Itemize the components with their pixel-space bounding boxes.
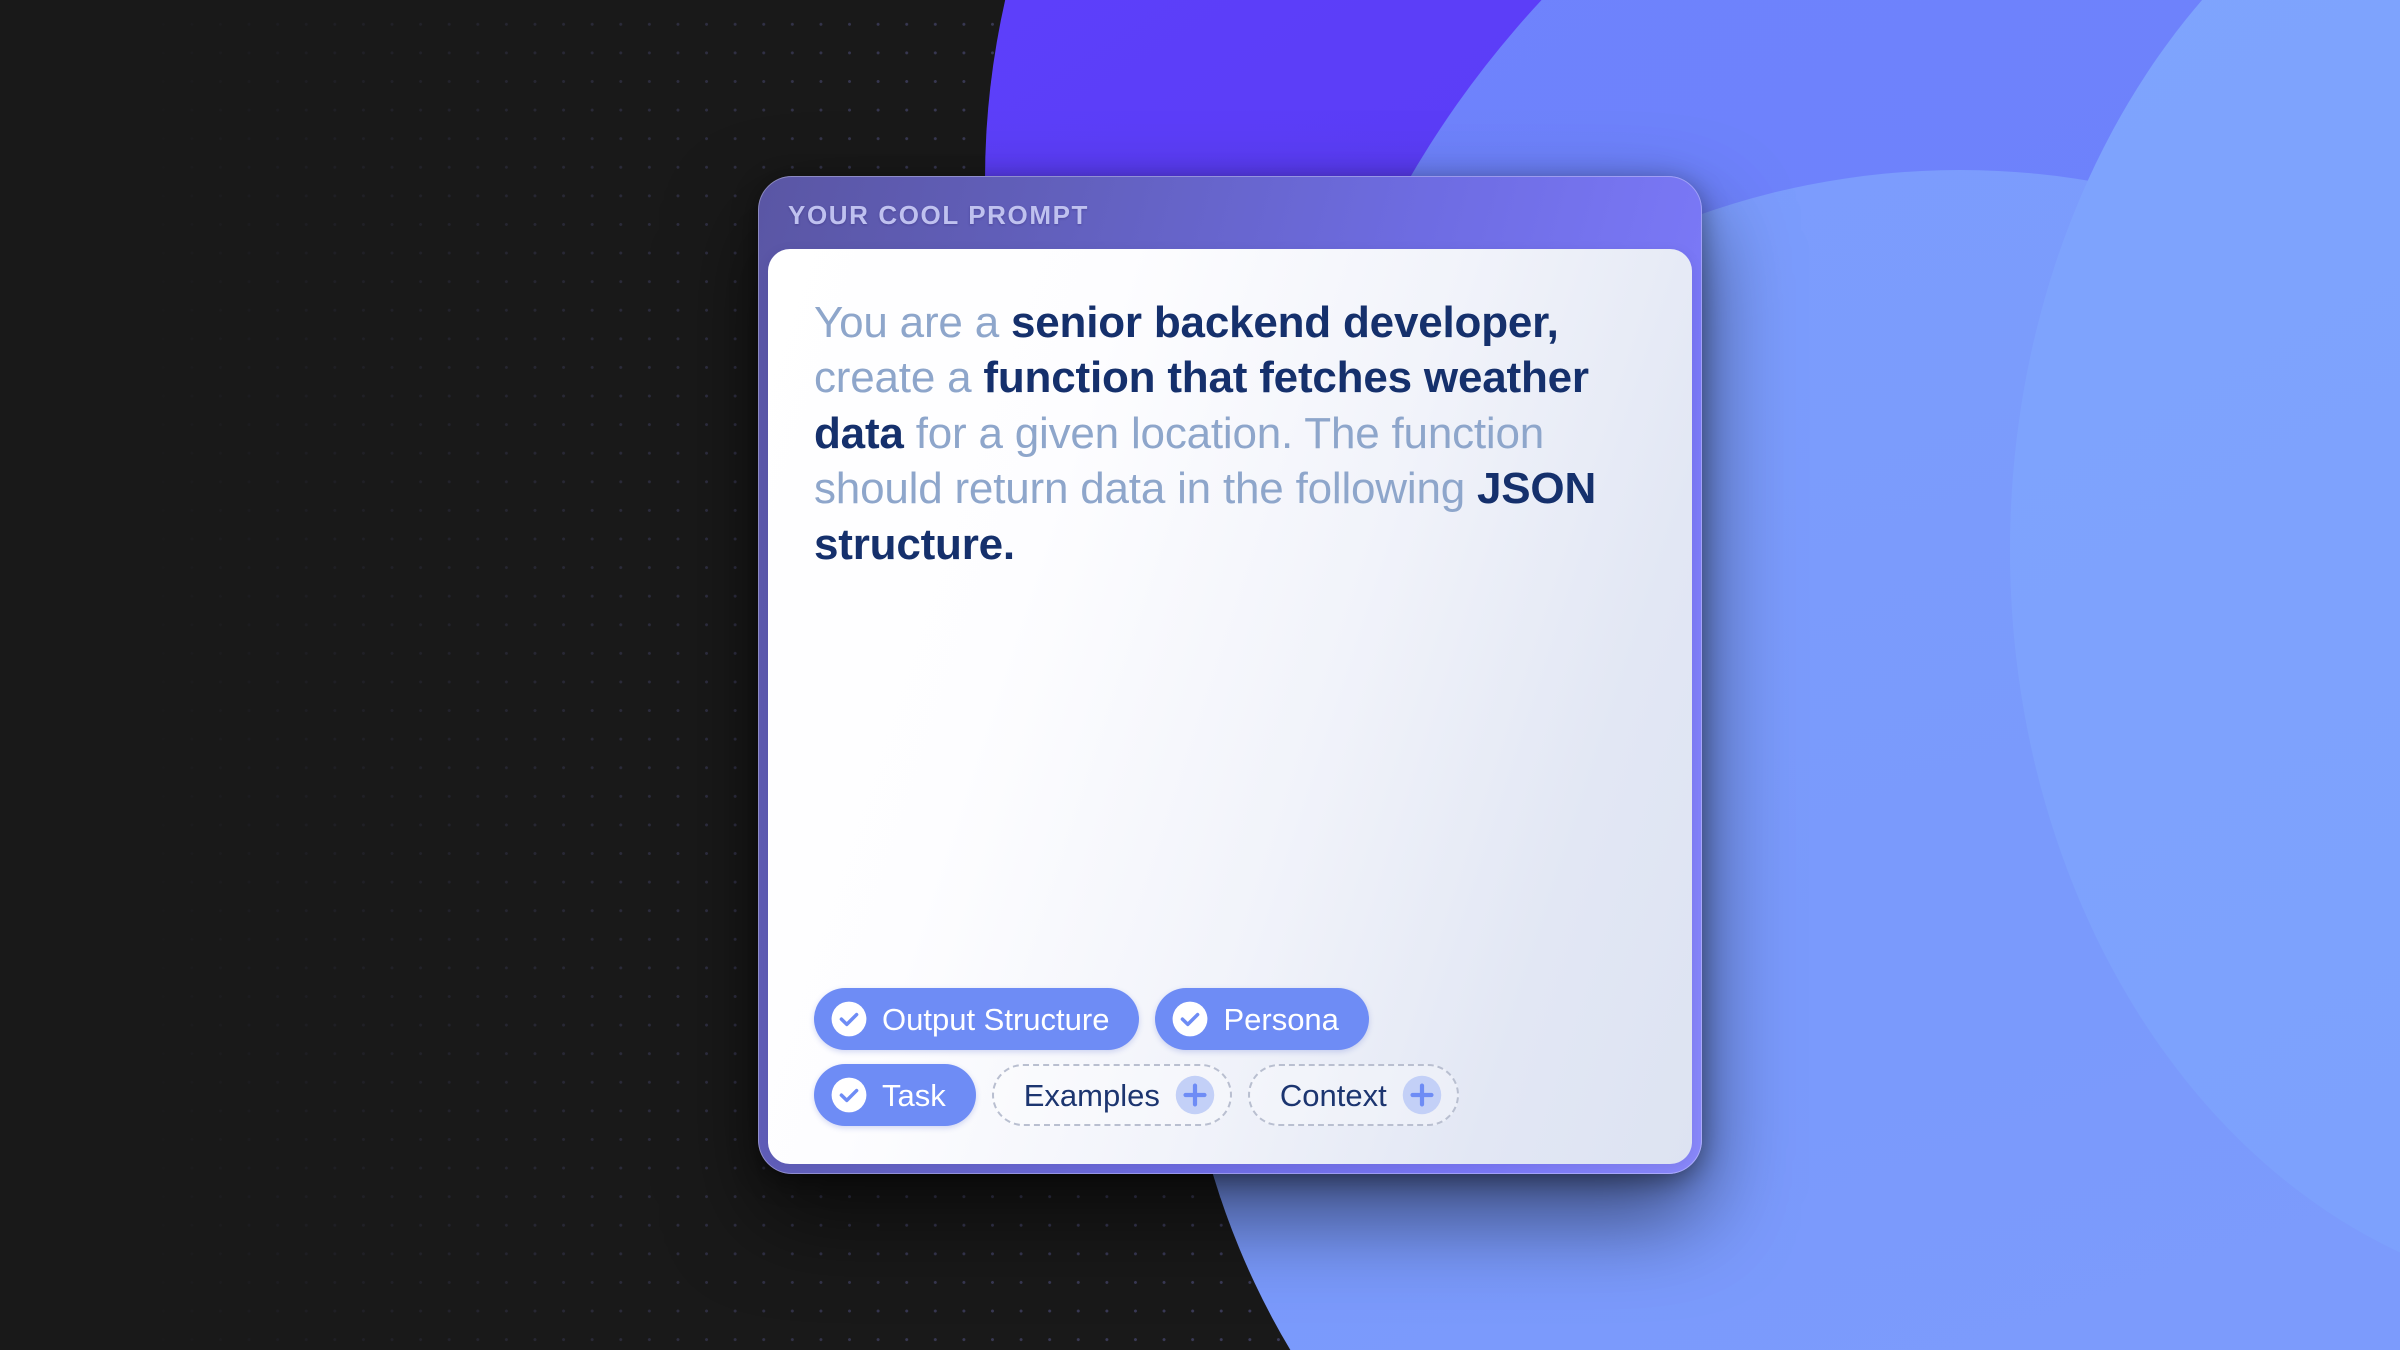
prompt-emphasis-segment: senior backend developer, — [1011, 298, 1559, 347]
prompt-body-text: You are a senior backend developer, crea… — [814, 295, 1646, 572]
pill-label: Persona — [1223, 1004, 1338, 1035]
plus-circle-icon[interactable] — [1401, 1074, 1443, 1116]
prompt-plain-segment: You are a — [814, 298, 1011, 347]
check-circle-icon — [830, 1076, 868, 1114]
pill-label: Examples — [1024, 1080, 1160, 1111]
prompt-plain-segment: for a given location. The function shoul… — [814, 409, 1544, 513]
pill-examples[interactable]: Examples — [992, 1064, 1232, 1126]
pill-label: Task — [882, 1080, 946, 1111]
pill-output-structure[interactable]: Output Structure — [814, 988, 1139, 1050]
pill-persona[interactable]: Persona — [1155, 988, 1368, 1050]
prompt-panel: You are a senior backend developer, crea… — [768, 249, 1692, 1164]
prompt-plain-segment: create a — [814, 353, 983, 402]
pill-task[interactable]: Task — [814, 1064, 976, 1126]
pill-label: Context — [1280, 1080, 1387, 1111]
check-circle-icon — [1171, 1000, 1209, 1038]
plus-circle-icon[interactable] — [1174, 1074, 1216, 1116]
prompt-card: YOUR COOL PROMPT You are a senior backen… — [758, 176, 1702, 1174]
prompt-component-pills: Output StructurePersonaTaskExamplesConte… — [814, 988, 1646, 1126]
prompt-card-title: YOUR COOL PROMPT — [768, 186, 1692, 249]
pill-row: TaskExamplesContext — [814, 1064, 1646, 1126]
pill-row: Output StructurePersona — [814, 988, 1646, 1050]
check-circle-icon — [830, 1000, 868, 1038]
pill-context[interactable]: Context — [1248, 1064, 1459, 1126]
pill-label: Output Structure — [882, 1004, 1109, 1035]
